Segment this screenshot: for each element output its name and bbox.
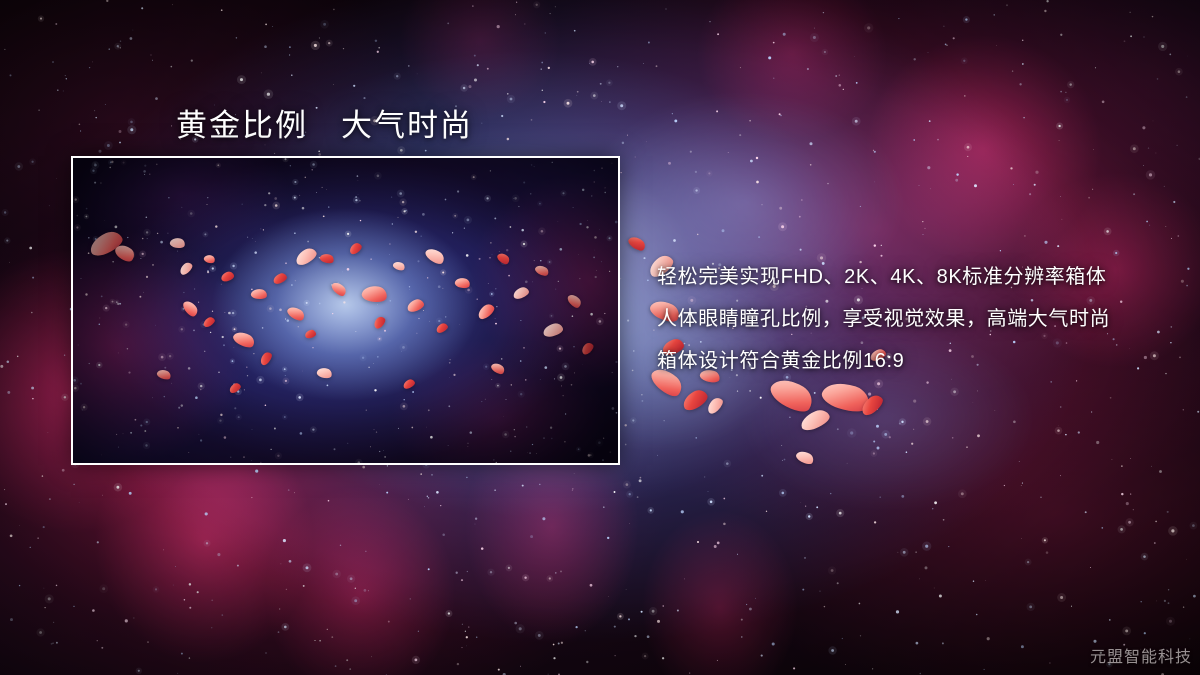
presentation-slide: 黄金比例 大气时尚 轻松完美实现FHD、2K、4K、8K标准分辨率箱体 人体眼睛… — [0, 0, 1200, 675]
body-copy-block: 轻松完美实现FHD、2K、4K、8K标准分辨率箱体 人体眼睛瞳孔比例，享受视觉效… — [657, 256, 1157, 382]
watermark: 元盟智能科技 — [1090, 643, 1192, 667]
body-line-2: 人体眼睛瞳孔比例，享受视觉效果，高端大气时尚 — [657, 298, 1157, 340]
body-line-3: 箱体设计符合黄金比例16:9 — [657, 340, 1157, 382]
body-line-1: 轻松完美实现FHD、2K、4K、8K标准分辨率箱体 — [657, 256, 1157, 298]
image-panel-frame[interactable] — [71, 156, 620, 465]
panel-vignette — [73, 158, 618, 463]
page-title: 黄金比例 大气时尚 — [176, 100, 473, 145]
